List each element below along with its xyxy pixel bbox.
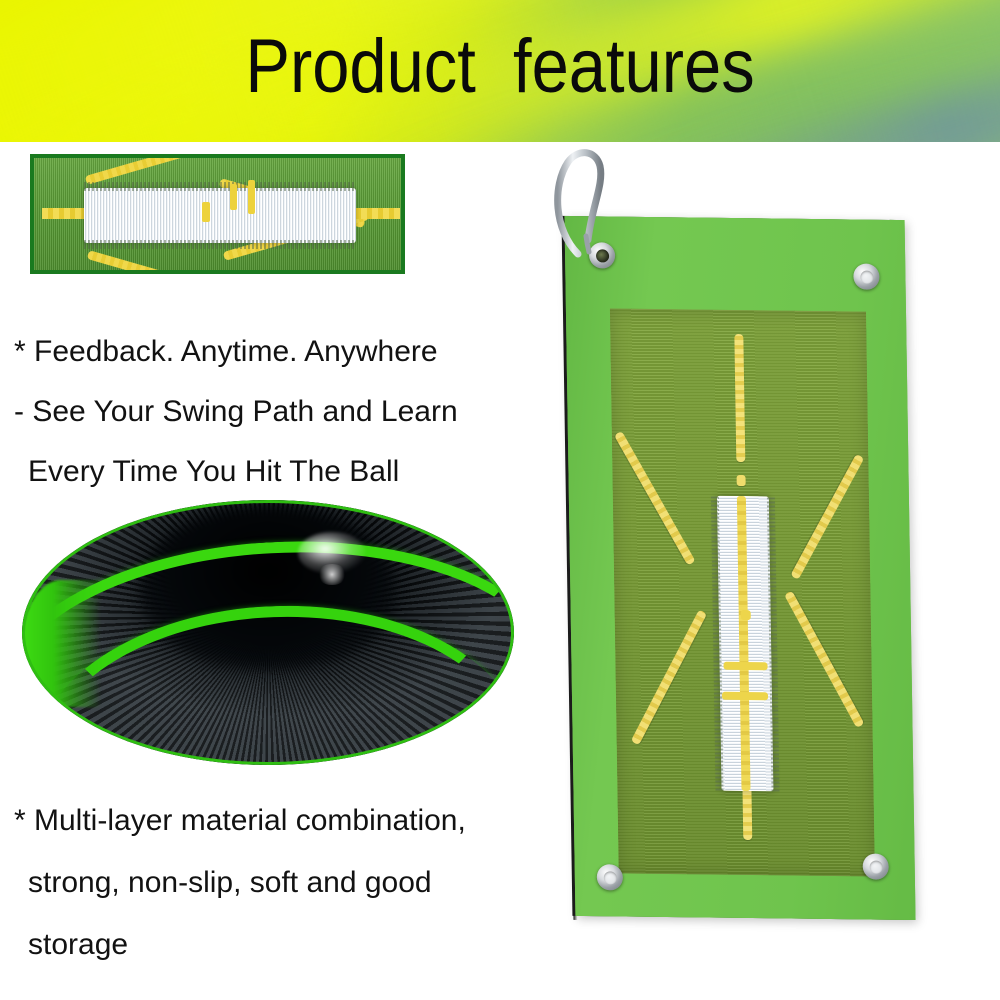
alignment-tick <box>248 180 255 214</box>
alignment-line-diagonal-bottom-left <box>631 609 707 745</box>
alignment-tick <box>741 610 751 620</box>
alignment-line-diagonal-top-right <box>790 454 864 580</box>
feature-text-feedback: * Feedback. Anytime. Anywhere - See Your… <box>14 322 534 502</box>
left-content-column: * Feedback. Anytime. Anywhere - See Your… <box>0 142 540 1000</box>
alignment-tick <box>723 662 767 671</box>
page-title: Product features <box>60 0 940 142</box>
feature-line: * Multi-layer material combination, <box>14 790 554 852</box>
feature-line: Every Time You Hit The Ball <box>14 442 534 502</box>
alignment-line-diagonal-top-left <box>614 431 696 566</box>
header-banner: Product features <box>0 0 1000 142</box>
mat-turf-surface <box>610 308 875 876</box>
oval-rim <box>22 500 514 765</box>
specular-highlight <box>317 564 347 585</box>
feature-line: strong, non-slip, soft and good <box>14 852 554 914</box>
alignment-line-vertical-top <box>734 334 745 462</box>
alignment-line-diagonal-bottom-right <box>784 591 864 728</box>
turf-strip-closeup-photo <box>30 154 405 274</box>
alignment-center-dot <box>737 475 746 486</box>
alignment-tick <box>230 184 237 210</box>
product-photo-golf-mat <box>540 130 1000 960</box>
grommet-bottom-left <box>597 864 623 890</box>
golf-mat-body <box>564 216 915 920</box>
grommet-bottom-right <box>862 853 888 879</box>
strike-pad <box>84 188 356 243</box>
feature-text-material: * Multi-layer material combination, stro… <box>14 790 554 976</box>
feature-line: - See Your Swing Path and Learn <box>14 382 534 442</box>
feature-line: * Feedback. Anytime. Anywhere <box>14 322 534 382</box>
carabiner-clip-icon <box>548 144 612 260</box>
rubber-base-closeup-photo <box>22 500 514 765</box>
alignment-tick <box>722 692 768 701</box>
alignment-tick <box>202 202 210 222</box>
grommet-top-right <box>853 263 879 289</box>
feature-line: storage <box>14 914 554 976</box>
